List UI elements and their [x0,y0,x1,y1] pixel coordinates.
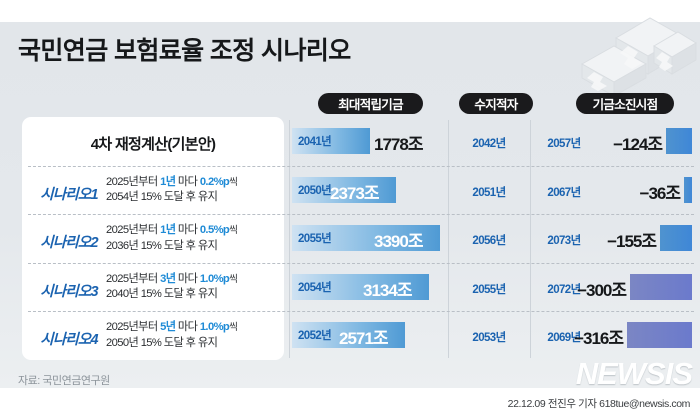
row-label-scenario: 시나리오3 [26,280,112,301]
scenario-table: 4차 재정계산(기본안)2041년1778조2042년2057년−124조시나리… [0,117,700,360]
desc-line-2: 2040년 15% 도달 후 유지 [106,288,217,300]
exhaustion-deficit-value: −300조 [577,276,626,301]
deficit-year: 2053년 [452,329,526,345]
row-label-scenario: 시나리오2 [26,231,112,252]
fund-peak-year: 2054년 [298,279,331,295]
exhaustion-deficit-bar [627,322,692,348]
deficit-year: 2042년 [452,135,526,151]
exhaustion-year: 2073년 [536,232,592,248]
row-divider [28,214,694,215]
fund-cell: 2052년2571조 [292,322,448,348]
table-row: 시나리오22025년부터 1년 마다 0.5%p씩2036년 15% 도달 후 … [0,214,700,263]
fund-value: 3134조 [363,276,411,301]
exhaustion-deficit-bar [684,177,692,203]
column-header-deficit: 수지적자 [459,93,533,114]
row-label-basecase: 4차 재정계산(기본안) [22,133,284,154]
row-divider [28,263,694,264]
fund-value: 2571조 [339,324,387,349]
exhaustion-deficit-value: −316조 [574,324,623,349]
row-description: 2025년부터 5년 마다 1.0%p씩2050년 15% 도달 후 유지 [106,320,286,350]
exhaustion-deficit-value: −124조 [613,130,662,155]
exhaustion-year: 2057년 [536,135,592,151]
exhaustion-deficit-bar [660,225,692,251]
row-description: 2025년부터 1년 마다 0.5%p씩2036년 15% 도달 후 유지 [106,223,286,253]
deficit-year: 2051년 [452,184,526,200]
table-row: 시나리오42025년부터 5년 마다 1.0%p씩2050년 15% 도달 후 … [0,311,700,360]
desc-line-1: 2025년부터 3년 마다 1.0%p씩 [106,273,237,285]
table-row: 4차 재정계산(기본안)2041년1778조2042년2057년−124조 [0,117,700,166]
fund-cell: 2050년2373조 [292,177,448,203]
source-note: 자료: 국민연금연구원 [18,372,110,388]
byline: 22.12.09 전진우 기자 618tue@newsis.com [508,396,690,411]
desc-line-2: 2050년 15% 도달 후 유지 [106,337,217,349]
exhaustion-year: 2067년 [536,184,592,200]
fund-value: 3390조 [374,227,422,252]
exhaustion-deficit-value: −155조 [607,227,656,252]
fund-cell: 2054년3134조 [292,274,448,300]
deficit-year: 2056년 [452,232,526,248]
fund-peak-year: 2041년 [298,133,331,149]
desc-line-1: 2025년부터 5년 마다 1.0%p씩 [106,321,237,333]
column-header-exhaustion: 기금소진시점 [576,93,674,114]
fund-peak-year: 2050년 [298,182,331,198]
exhaustion-deficit-value: −36조 [640,179,680,204]
row-label-scenario: 시나리오4 [26,328,112,349]
row-description: 2025년부터 1년 마다 0.2%p씩2054년 15% 도달 후 유지 [106,175,286,205]
page-title: 국민연금 보험료율 조정 시나리오 [18,31,351,67]
fund-cell: 2041년1778조 [292,128,448,154]
fund-peak-year: 2052년 [298,327,331,343]
row-label-scenario: 시나리오1 [26,183,112,204]
table-row: 시나리오32025년부터 3년 마다 1.0%p씩2040년 15% 도달 후 … [0,263,700,312]
desc-line-1: 2025년부터 1년 마다 0.5%p씩 [106,224,237,236]
row-divider [28,166,694,167]
fund-value: 1778조 [374,130,422,155]
desc-line-2: 2054년 15% 도달 후 유지 [106,191,217,203]
exhaustion-deficit-bar [630,274,692,300]
row-description: 2025년부터 3년 마다 1.0%p씩2040년 15% 도달 후 유지 [106,272,286,302]
row-divider [28,311,694,312]
deficit-year: 2055년 [452,281,526,297]
fund-value: 2373조 [330,179,378,204]
column-header-fund: 최대적립기금 [318,93,423,114]
exhaustion-deficit-bar [666,128,692,154]
desc-line-1: 2025년부터 1년 마다 0.2%p씩 [106,176,237,188]
fund-peak-year: 2055년 [298,230,331,246]
infographic-root: 국민연금 보험료율 조정 시나리오 최대적립기금 수지적자 기금소진시점 4차 … [0,0,700,418]
fund-cell: 2055년3390조 [292,225,448,251]
table-row: 시나리오12025년부터 1년 마다 0.2%p씩2054년 15% 도달 후 … [0,166,700,215]
desc-line-2: 2036년 15% 도달 후 유지 [106,240,217,252]
